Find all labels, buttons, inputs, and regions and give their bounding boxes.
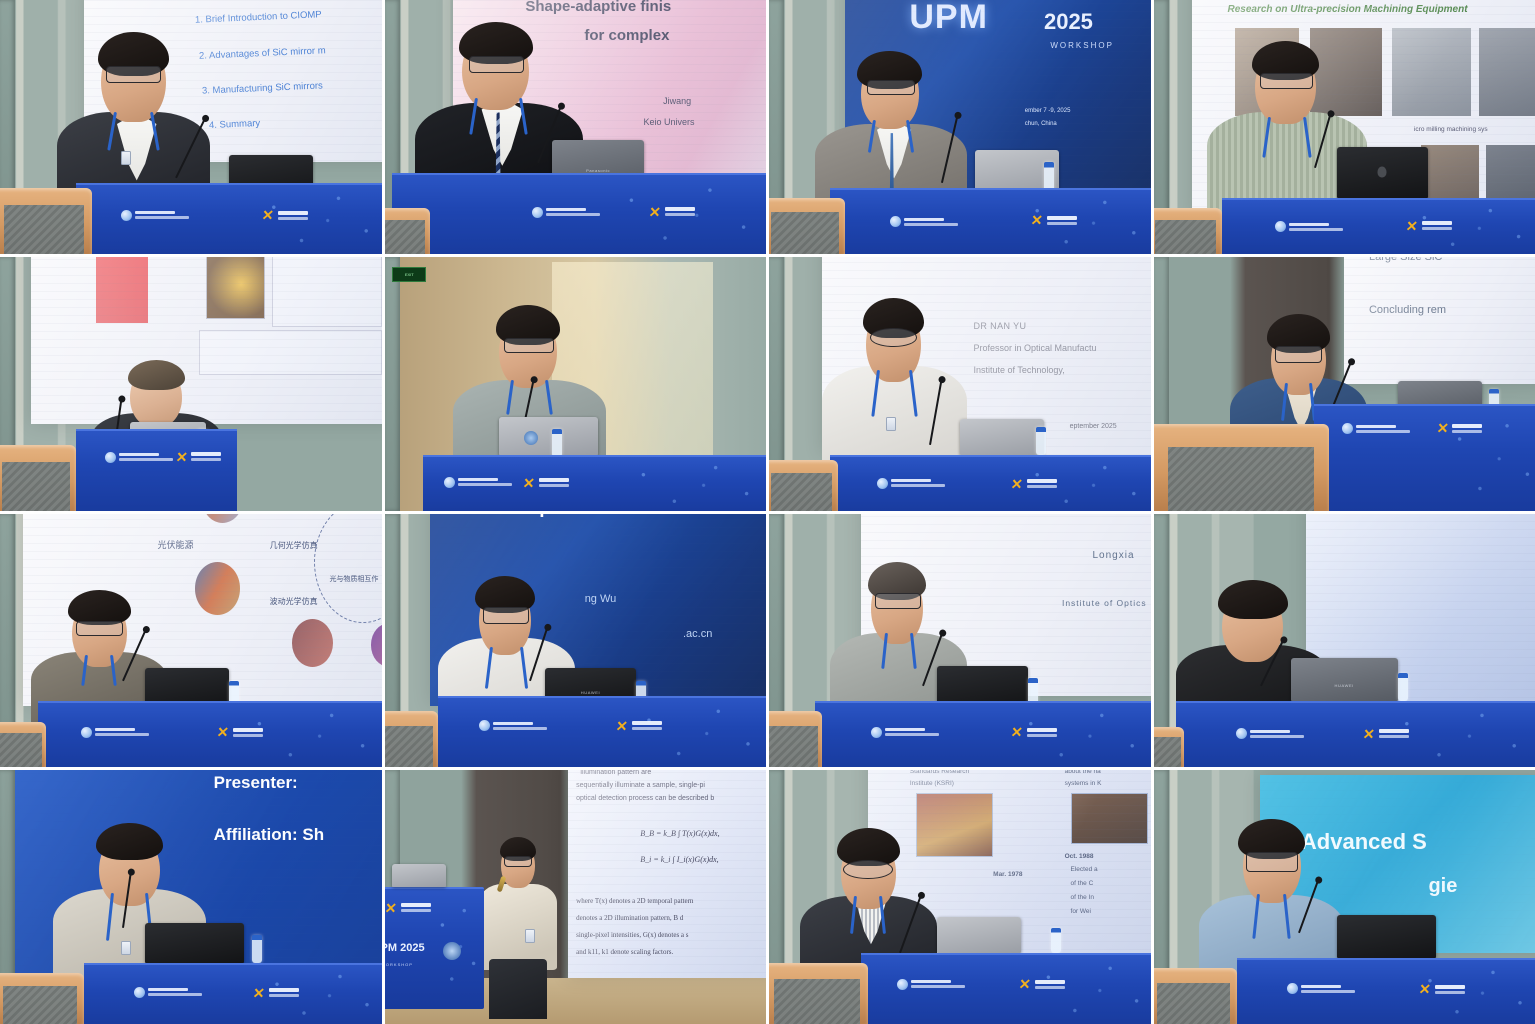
podium-rail — [1154, 968, 1238, 1024]
slide-line: eptember 2025 — [1070, 423, 1117, 431]
laptop — [1337, 915, 1436, 958]
slide-line: systems in K — [1065, 780, 1102, 787]
ciomp-logo — [1342, 423, 1410, 434]
photo-cell-11[interactable]: Industr Longxia Institute of Optics — [769, 514, 1151, 768]
slide-heading: Presenter: — [214, 773, 298, 793]
slide-line: denotes a 2D illumination pattern, B d — [576, 914, 683, 922]
slide-line: Affiliation: Sh — [214, 825, 324, 845]
glasses-icon — [483, 607, 528, 624]
jilin-university-logo: ✕ — [176, 450, 222, 464]
name-badge — [121, 151, 131, 165]
slide-line: 3. Manufacturing SiC mirrors — [202, 82, 323, 98]
ciomp-logo — [890, 216, 958, 227]
slide-line: optical detection process can be describ… — [576, 795, 714, 803]
slide-line: of the In — [1071, 894, 1095, 901]
slide-line: chun, China — [1025, 121, 1057, 128]
exit-sign-label: EXIT — [405, 272, 414, 277]
podium-rail — [0, 973, 84, 1024]
slide-line: and k11, k1 denote scaling factors. — [576, 948, 673, 956]
podium-rail — [769, 460, 838, 511]
podium-rail — [769, 963, 868, 1024]
institute-seal-icon — [443, 942, 461, 960]
diagram-bubble — [202, 514, 243, 524]
podium: ✕ — [84, 963, 382, 1024]
speaker-body — [479, 884, 556, 970]
speaker-hair — [96, 823, 163, 860]
ciomp-logo — [897, 979, 965, 990]
slide-line: Mar. 1978 — [993, 871, 1022, 878]
jilin-university-logo: ✕ — [262, 208, 308, 222]
slide-line: Professor in Optical Manufactu — [973, 343, 1096, 353]
podium: ✕ — [76, 429, 236, 510]
slide-line: 波动光学仿真 — [270, 597, 318, 606]
slide-line: for Wei — [1071, 908, 1091, 915]
podium: ✕ — [1222, 198, 1535, 254]
glasses-icon — [469, 56, 524, 73]
diagram-bubble — [371, 623, 382, 667]
photo-cell-3[interactable]: UPM 2025 WORKSHOP ember 7 -9, 2025 chun,… — [769, 0, 1151, 254]
podium-rail — [385, 711, 438, 767]
slide-line: single-pixel intensities, G(x) denotes a… — [576, 931, 688, 939]
podium: ✕ — [38, 701, 381, 767]
slide-line: Concluding rem — [1369, 304, 1446, 317]
podium: ✕ — [423, 455, 766, 511]
podium-rail — [1154, 727, 1185, 768]
podium-rail — [0, 445, 76, 511]
glasses-icon — [76, 621, 123, 636]
equation-line: B_B = k_B ∫ T(x)G(x)dx, — [640, 829, 719, 838]
slide-line: sequentially illuminate a sample, single… — [576, 782, 705, 790]
photo-cell-13[interactable]: Presenter: Affiliation: Sh ✕ — [0, 770, 382, 1024]
slide-line: ember 7 -9, 2025 — [1025, 108, 1071, 115]
speaker-figure — [476, 831, 560, 1019]
slide-line: 2. Advantages of SiC mirror m — [199, 46, 326, 62]
jilin-university-logo: ✕ — [1406, 219, 1452, 233]
photo-cell-4[interactable]: Precision Metrology Laboratory measureme… — [1154, 0, 1535, 254]
ciomp-logo — [121, 210, 189, 221]
name-badge — [886, 417, 896, 431]
slide-line: 几何光学仿真 — [270, 541, 318, 550]
slide-line: Large Size SiC — [1369, 257, 1442, 264]
photo-cell-1[interactable]: Outline 1. Brief Introduction to CIOMP 2… — [0, 0, 382, 254]
projection-screen: illumination pattern are sequentially il… — [568, 770, 766, 978]
podium-rail — [769, 198, 845, 254]
ciomp-logo — [532, 207, 600, 218]
podium-event-label: UPM 2025 — [385, 942, 425, 955]
jilin-university-logo: ✕ — [1011, 477, 1057, 491]
institute-seal-icon — [524, 431, 538, 445]
slide-line: about the na — [1065, 770, 1101, 775]
slide-line: Institute of Optics — [1062, 599, 1147, 609]
ciomp-logo — [1287, 983, 1355, 994]
podium: ✕ — [1176, 701, 1535, 767]
laptop — [145, 923, 244, 964]
glasses-icon — [867, 80, 916, 96]
slide-line: illumination pattern are — [580, 770, 651, 777]
jilin-university-logo: ✕ — [1437, 421, 1483, 435]
podium: ✕ — [438, 696, 766, 767]
slide-line: Longxia — [1093, 550, 1135, 562]
slide-line: gie — [1428, 875, 1457, 898]
speaker-hair — [68, 590, 131, 625]
jilin-university-logo: ✕ — [1419, 982, 1465, 996]
jilin-university-logo: ✕ — [1031, 213, 1077, 227]
slide-line: DR NAN YU — [973, 321, 1026, 331]
slide-line: Oct. 1988 — [1065, 853, 1094, 860]
photo-cell-10[interactable]: on Gas C smooth process tec ng Wu .ac.cn… — [385, 514, 767, 768]
water-bottle — [1036, 427, 1046, 455]
laptop — [937, 917, 1021, 953]
podium-event-sub: WORKSHOP — [385, 963, 413, 968]
glasses-icon — [504, 856, 533, 867]
slide-line: 4. Summary — [208, 119, 260, 132]
ciomp-logo — [479, 720, 547, 731]
speaker-hair — [1218, 580, 1288, 619]
diagram-bubble — [292, 619, 333, 667]
jilin-university-logo: ✕ — [253, 986, 299, 1000]
photo-cell-2[interactable]: Shape-adaptive finis for complex Jiwang … — [385, 0, 767, 254]
slide-line: WORKSHOP — [1050, 41, 1114, 50]
photo-cell-5[interactable]: ✕ — [0, 257, 382, 511]
jilin-university-logo: ✕ — [385, 901, 431, 915]
diagram-ring — [314, 514, 381, 624]
slide-line: 1. Brief Introduction to CIOMP — [195, 10, 322, 26]
slide-line: .ac.cn — [683, 628, 712, 641]
photo-cell-14[interactable]: illumination pattern are sequentially il… — [385, 770, 767, 1024]
speaker-hair — [128, 360, 185, 390]
name-badge — [525, 929, 535, 943]
slide-figure-panel — [199, 330, 382, 375]
slide-line: Elected a — [1071, 866, 1098, 873]
ciomp-logo — [1236, 728, 1304, 739]
podium-rail — [1154, 208, 1223, 254]
glasses-icon — [1275, 346, 1322, 363]
podium: ✕ — [830, 455, 1150, 511]
ciomp-logo — [105, 452, 173, 463]
slide-heading: smooth process tec — [465, 514, 645, 519]
slide-line: 2025 — [1044, 9, 1093, 34]
photo-collage-grid: Outline 1. Brief Introduction to CIOMP 2… — [0, 0, 1535, 1024]
podium-rail — [385, 208, 431, 254]
photo-cell-8[interactable]: Large Size SiC Concluding rem — [1154, 257, 1535, 511]
ciomp-logo — [81, 727, 149, 738]
slide-line: Institute (KSRI) — [910, 780, 954, 787]
photo-cell-7[interactable]: Thank you for DR NAN YU Professor in Opt… — [769, 257, 1151, 511]
speaker-legs — [489, 959, 546, 1019]
laptop — [499, 417, 598, 455]
glasses-icon — [875, 593, 920, 609]
podium: ✕ — [861, 953, 1151, 1024]
apple-logo-icon — [1378, 166, 1387, 177]
glasses-icon — [1246, 852, 1298, 872]
jilin-university-logo: ✕ — [217, 725, 263, 739]
podium: ✕ — [76, 183, 381, 254]
photo-cell-9[interactable]: Optical EDA 光伏能源 几何光学仿真 波动光学仿真 光与物质相互作 — [0, 514, 382, 768]
laptop-brand: HUAWEI — [1335, 683, 1354, 688]
laptop — [937, 666, 1029, 707]
jilin-university-logo: ✕ — [649, 205, 695, 219]
photo-cell-12[interactable]: HUAWEI ✕ — [1154, 514, 1535, 768]
water-bottle — [1398, 673, 1408, 701]
laptop: HUAWEI — [1291, 658, 1398, 701]
podium-rail — [1154, 424, 1329, 510]
jilin-university-logo: ✕ — [523, 476, 569, 490]
projection-screen: Large Size SiC Concluding rem — [1344, 257, 1535, 384]
jilin-university-logo: ✕ — [616, 719, 662, 733]
slide-line: Institute of Technology, — [973, 365, 1064, 375]
laptop — [960, 419, 1044, 455]
photo-cell-16[interactable]: Advanced S gie ✕ — [1154, 770, 1535, 1024]
photo-cell-15[interactable]: Dec 1975 Established as Korea Standards … — [769, 770, 1151, 1024]
podium: ✕ — [815, 701, 1151, 767]
glasses-icon — [843, 860, 892, 879]
slide-line: where T(x) denotes a 2D temporal pattern — [576, 897, 693, 905]
ciomp-logo — [1275, 221, 1343, 232]
diagram-bubble — [195, 562, 240, 614]
podium: ✕ UPM 2025 WORKSHOP — [385, 887, 484, 1009]
water-bottle — [1051, 928, 1061, 953]
photo-cell-6[interactable]: EXIT ✕ — [385, 257, 767, 511]
podium-rail — [769, 711, 822, 767]
ciomp-logo — [871, 727, 939, 738]
slide-line: icro milling machining sys — [1414, 126, 1488, 133]
laptop — [392, 864, 445, 887]
equipment-thumb — [1479, 28, 1535, 116]
podium-rail — [0, 722, 46, 768]
glasses-icon — [106, 66, 160, 83]
equipment-thumb — [1392, 28, 1471, 116]
slide-line: Standards Research — [910, 770, 969, 775]
slide-line: for complex — [584, 27, 669, 44]
glasses-icon — [1260, 73, 1313, 89]
slide-line: 光与物质相互作 — [329, 575, 378, 583]
slide-line: of the C — [1071, 880, 1094, 887]
glasses-icon — [870, 328, 916, 347]
slide-line: 光伏能源 — [157, 541, 193, 551]
podium: ✕ — [1314, 404, 1535, 511]
jilin-university-logo: ✕ — [1011, 725, 1057, 739]
laptop — [1337, 147, 1429, 198]
ciomp-logo — [877, 478, 945, 489]
slide-figure — [206, 257, 265, 319]
equation-line: B_i = k_i ∫ I_i(x)G(x)dx, — [640, 855, 718, 864]
slide-line: Jiwang — [663, 96, 691, 106]
slide-figure-panel — [272, 257, 381, 327]
water-bottle — [252, 935, 262, 963]
ciomp-logo — [134, 987, 202, 998]
slide-line: Keio Univers — [643, 117, 694, 127]
ciomp-logo — [444, 477, 512, 488]
jilin-university-logo: ✕ — [1363, 727, 1409, 741]
water-bottle — [552, 429, 562, 457]
slide-line: ng Wu — [585, 593, 617, 606]
slide-accent-block — [96, 257, 147, 323]
timeline-photo — [1071, 793, 1148, 843]
podium: ✕ — [1237, 958, 1535, 1024]
glasses-icon — [504, 338, 554, 353]
name-badge — [121, 941, 131, 955]
podium: ✕ — [830, 188, 1150, 254]
podium-rail — [0, 188, 92, 254]
podium: ✕ — [392, 173, 766, 254]
exit-sign: EXIT — [392, 267, 426, 282]
slide-heading: Research on Ultra-precision Machining Eq… — [1228, 4, 1468, 16]
jilin-university-logo: ✕ — [1019, 977, 1065, 991]
